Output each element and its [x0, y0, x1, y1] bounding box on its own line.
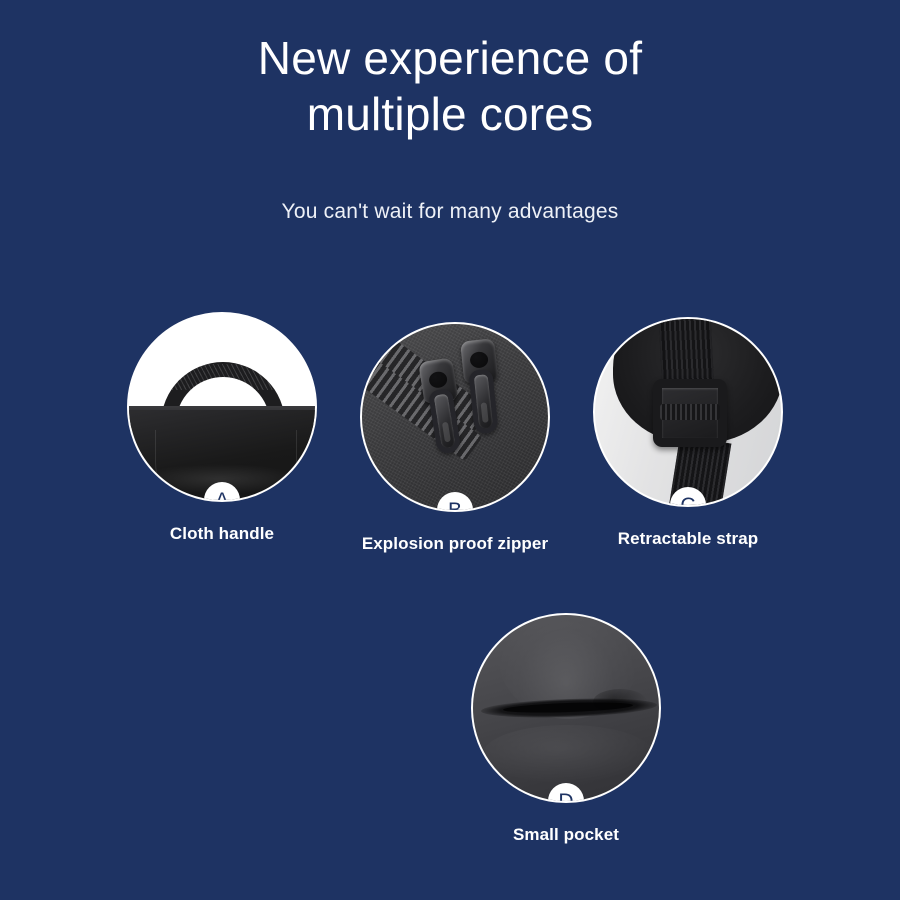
- product-feature-poster: New experience of multiple cores You can…: [0, 0, 900, 900]
- feature-item-strap: C Retractable strap: [593, 317, 783, 507]
- zipper-photo: [362, 324, 548, 510]
- pocket-crease-shape: [593, 689, 647, 715]
- title-line-1: New experience of: [0, 30, 900, 86]
- strap-buckle-shape: [653, 379, 727, 447]
- strap-buckle-photo: [595, 319, 781, 505]
- feature-item-cloth-handle: A Cloth handle: [127, 312, 317, 502]
- cloth-handle-photo: [129, 314, 315, 500]
- pocket-highlight-shape: [483, 725, 653, 783]
- feature-label-b: Explosion proof zipper: [362, 534, 548, 554]
- zipper-pull-shape-1: [418, 357, 467, 457]
- zipper-pull-tab: [428, 388, 462, 455]
- feature-circle-b: B: [360, 322, 550, 512]
- feature-item-zipper: B Explosion proof zipper: [360, 322, 550, 512]
- page-subtitle: You can't wait for many advantages: [0, 200, 900, 224]
- feature-circle-a: A: [127, 312, 317, 502]
- feature-circle-c: C: [593, 317, 783, 507]
- feature-label-a: Cloth handle: [170, 524, 274, 544]
- feature-circle-d: D: [471, 613, 661, 803]
- small-pocket-photo: [473, 615, 659, 801]
- feature-label-c: Retractable strap: [618, 529, 759, 549]
- title-line-2: multiple cores: [0, 86, 900, 142]
- feature-item-small-pocket: D Small pocket: [471, 613, 661, 803]
- feature-label-d: Small pocket: [513, 825, 619, 845]
- page-title: New experience of multiple cores: [0, 30, 900, 142]
